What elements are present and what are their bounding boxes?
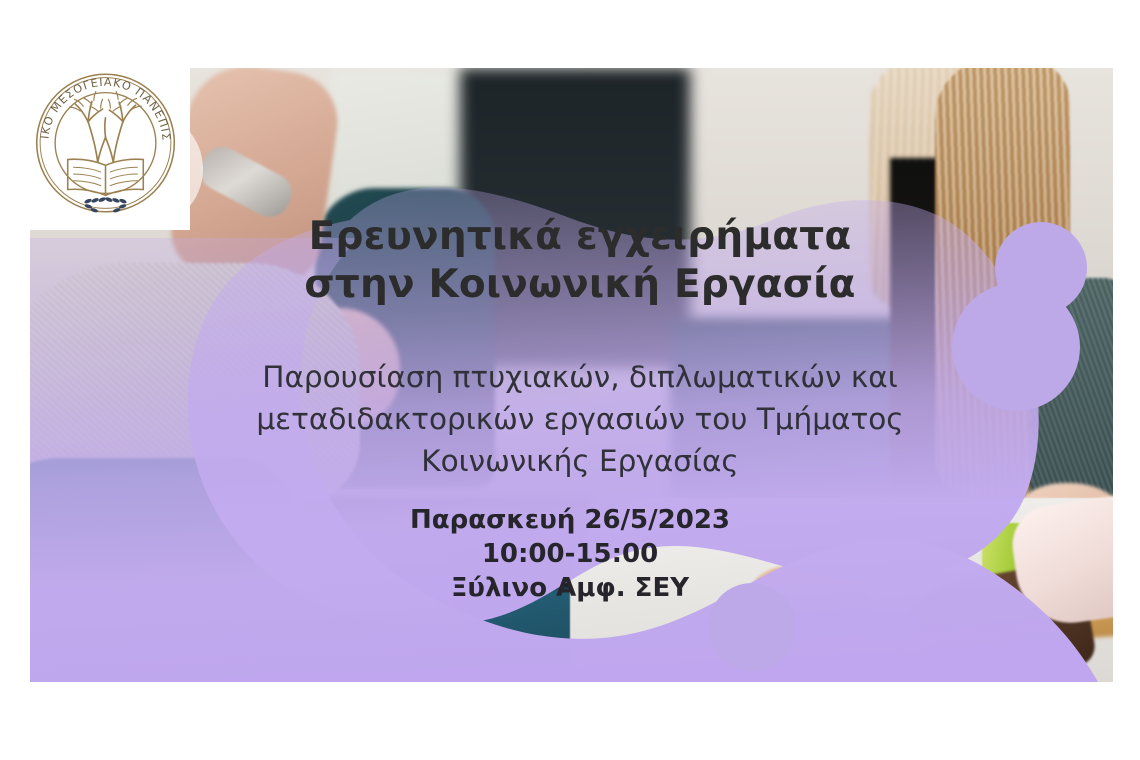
title-line-1: Ερευνητικά εγχειρήματα <box>150 213 1010 261</box>
poster-title: Ερευνητικά εγχειρήματα στην Κοινωνική Ερ… <box>150 213 1010 309</box>
subtitle-line-1: Παρουσίαση πτυχιακών, διπλωματικών και <box>120 357 1040 399</box>
event-time: 10:00-15:00 <box>220 537 920 571</box>
event-details: Παρασκευή 26/5/2023 10:00-15:00 Ξύλινο Α… <box>220 503 920 605</box>
event-venue: Ξύλινο Αμφ. ΣΕΥ <box>220 571 920 605</box>
subtitle-line-2: μεταδιδακτορικών εργασιών του Τμήματος <box>120 399 1040 441</box>
title-line-2: στην Κοινωνική Εργασία <box>150 261 1010 309</box>
subtitle-line-3: Κοινωνικής Εργασίας <box>120 441 1040 483</box>
poster-subtitle: Παρουσίαση πτυχιακών, διπλωματικών και μ… <box>120 357 1040 483</box>
event-date: Παρασκευή 26/5/2023 <box>220 503 920 537</box>
poster-canvas: ΕΛΛΗΝΙΚΟ ΜΕΣΟΓΕΙΑΚΟ ΠΑΝΕΠΙΣΤΗΜΙΟ <box>0 0 1140 760</box>
text-layer: Ερευνητικά εγχειρήματα στην Κοινωνική Ερ… <box>0 0 1140 760</box>
